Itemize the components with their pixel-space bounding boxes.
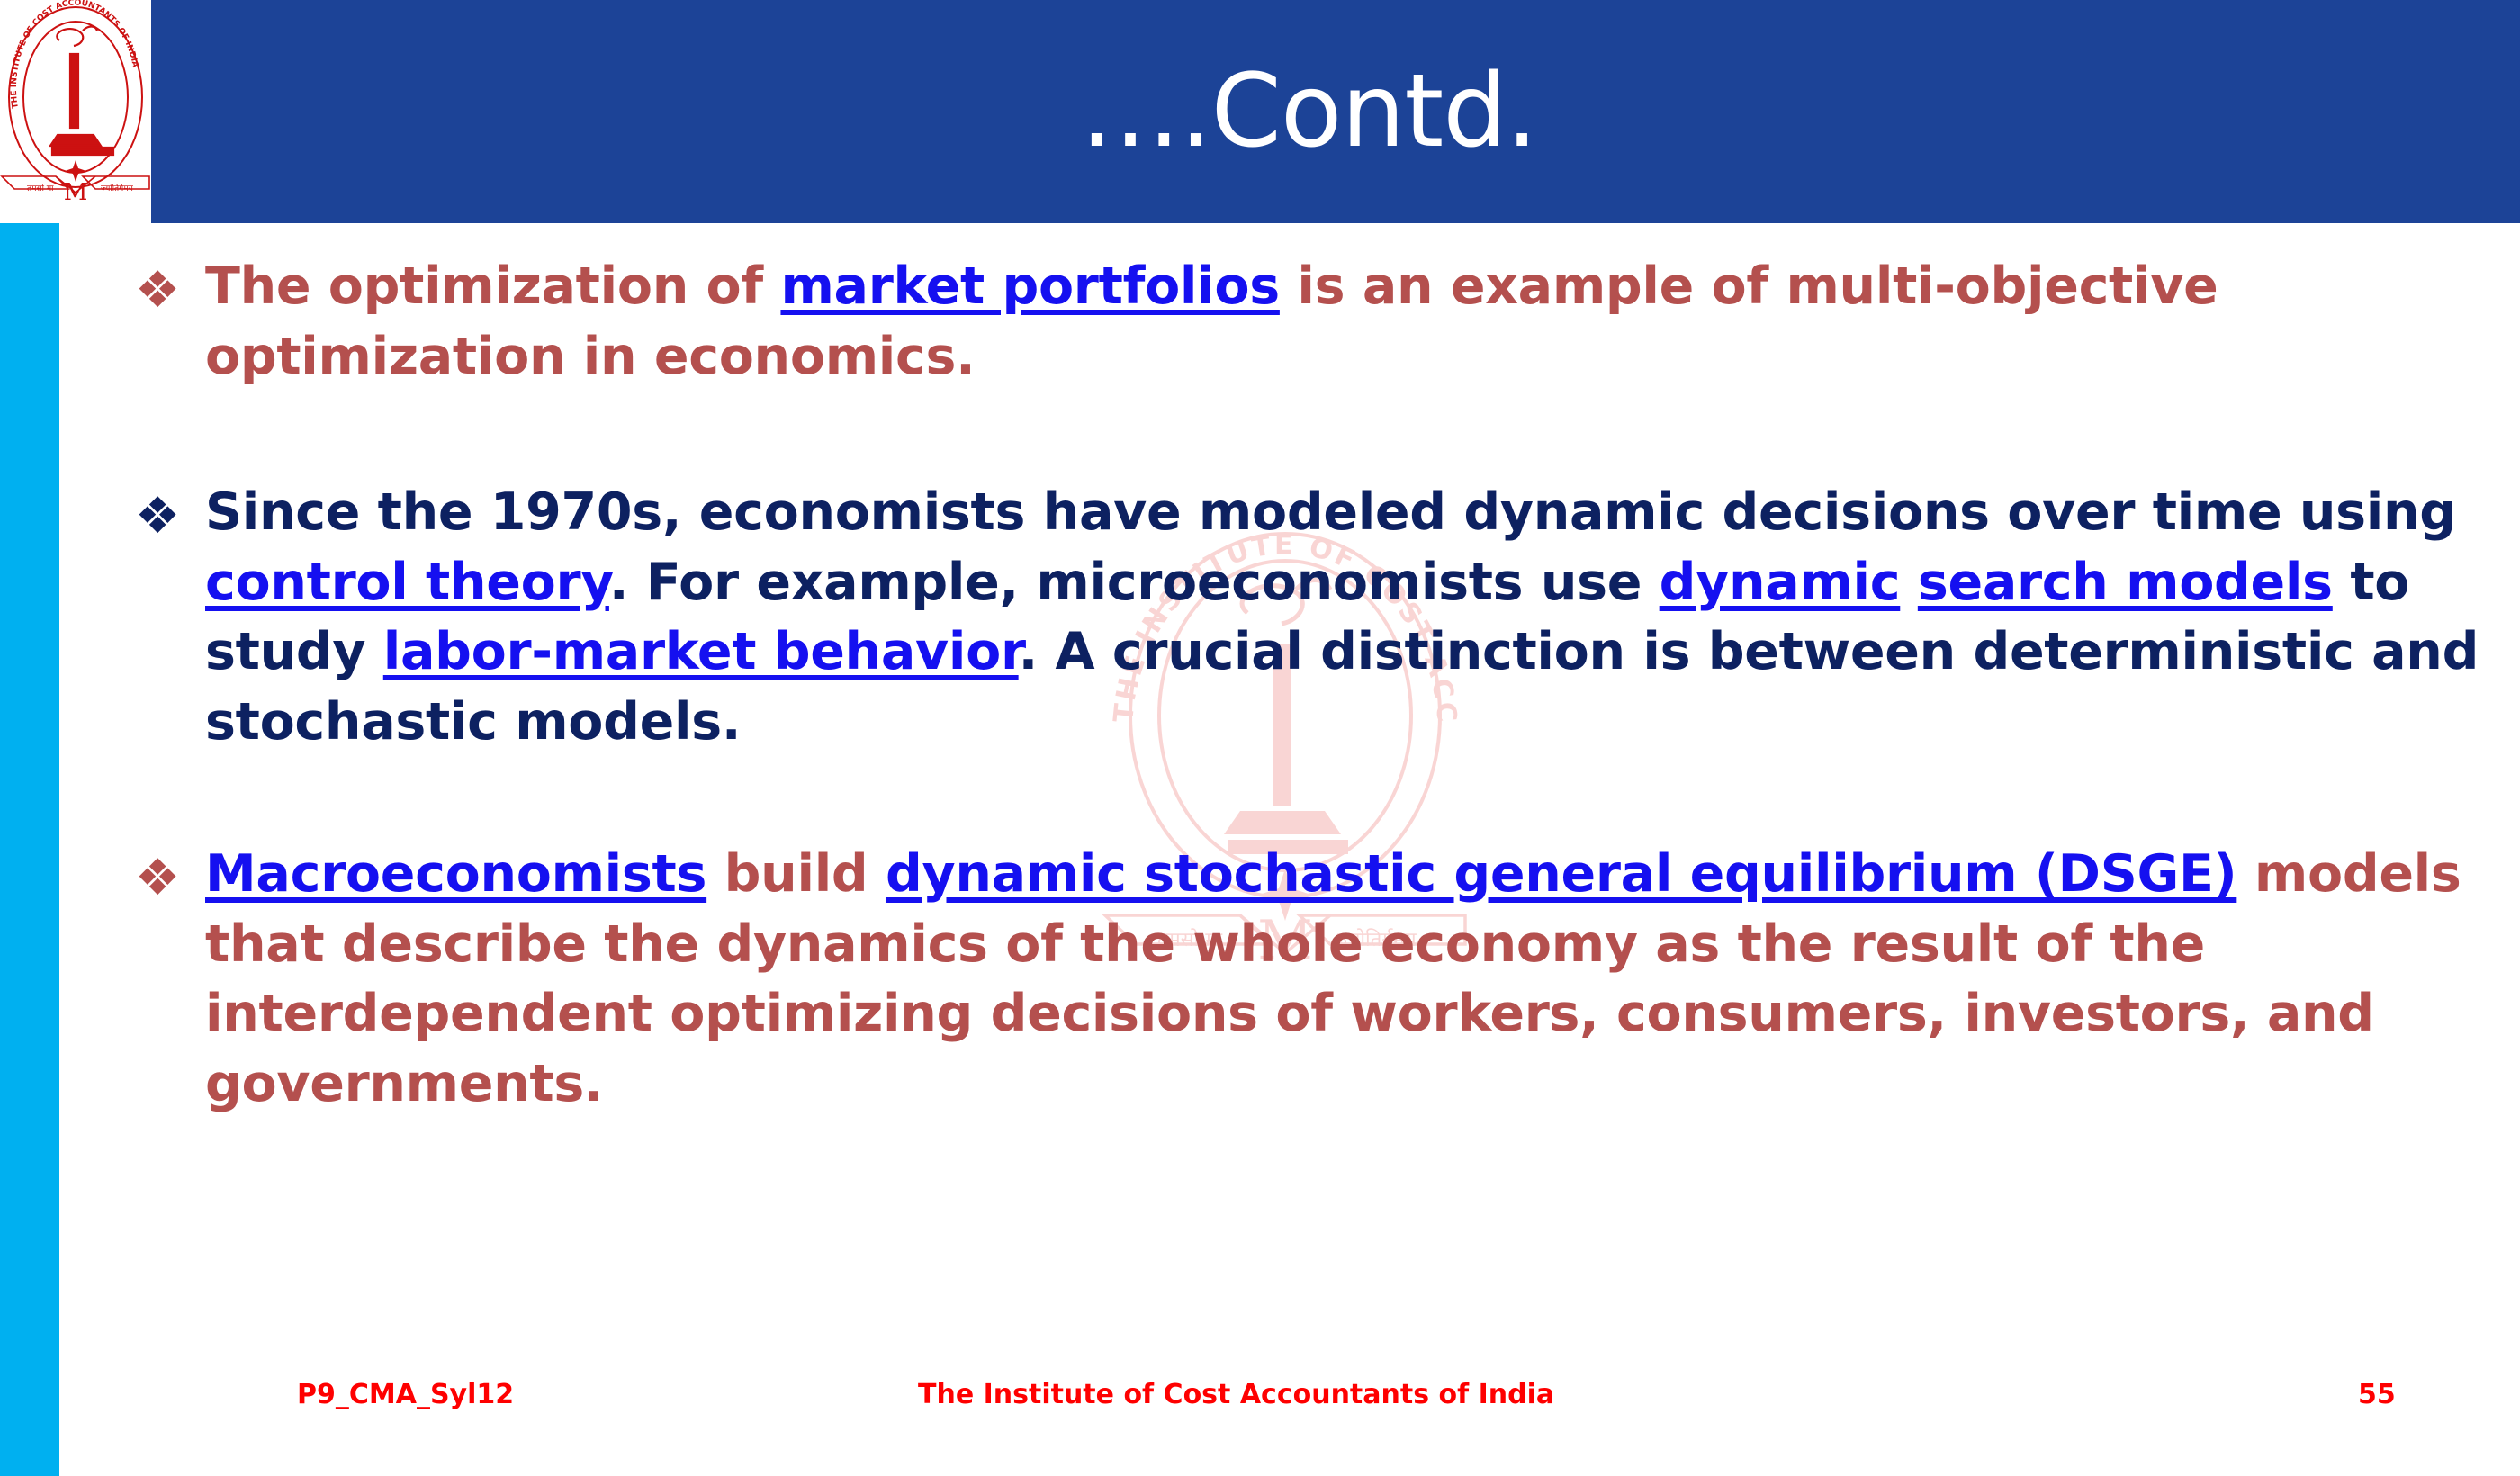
link-search-models[interactable]: search models <box>1918 553 2333 612</box>
link-dynamic[interactable]: dynamic <box>1660 553 1901 612</box>
institute-logo: THE INSTITUTE OF COST ACCOUNTANTS OF IND… <box>0 0 151 223</box>
bullet-item-3: ❖ Macroeconomists build dynamic stochast… <box>135 840 2493 1119</box>
footer-page-number: 55 <box>2358 1379 2396 1410</box>
bullet-item-2: ❖ Since the 1970s, economists have model… <box>135 478 2493 757</box>
page-title: ….Contd. <box>151 0 2520 223</box>
bullet-2-seg-0: Since the 1970s, economists have modeled… <box>205 482 2456 542</box>
link-market-portfolios[interactable]: market portfolios <box>780 256 1279 316</box>
link-dsge[interactable]: dynamic stochastic general equilibrium (… <box>886 844 2236 904</box>
bullet-item-1: ❖ The optimization of market portfolios … <box>135 252 2493 391</box>
footer-subject-code: P9_CMA_Syl12 <box>297 1379 514 1410</box>
spacer-1 <box>135 391 2493 478</box>
svg-text:M: M <box>64 179 88 206</box>
bullet-marker-icon: ❖ <box>135 478 205 550</box>
slide-canvas: THE INSTITUTE OF COST ACCOUNTANTS OF IND… <box>0 0 2520 1476</box>
link-control-theory[interactable]: control theory <box>205 553 609 612</box>
bullet-text-1: The optimization of market portfolios is… <box>205 252 2493 391</box>
slide-footer: P9_CMA_Syl12 The Institute of Cost Accou… <box>0 1370 2520 1433</box>
footer-institute-name: The Institute of Cost Accountants of Ind… <box>918 1379 1554 1410</box>
bullet-text-3: Macroeconomists build dynamic stochastic… <box>205 840 2493 1119</box>
bullet-text-2: Since the 1970s, economists have modeled… <box>205 478 2493 757</box>
spacer-2 <box>135 757 2493 840</box>
slide-body: ❖ The optimization of market portfolios … <box>135 252 2493 1119</box>
bullet-3-seg-2: build <box>706 844 886 904</box>
bullet-1-seg-0: The optimization of <box>205 256 780 316</box>
bullet-marker-icon: ❖ <box>135 840 205 912</box>
bullet-marker-icon: ❖ <box>135 252 205 324</box>
bullet-2-seg-4 <box>1900 553 1918 612</box>
link-labor-market-behavior[interactable]: labor-market behavior <box>383 622 1019 681</box>
title-banner: ….Contd. <box>151 0 2520 223</box>
link-macroeconomists[interactable]: Macroeconomists <box>205 844 706 904</box>
bullet-2-seg-2: . For example, microeconomists use <box>609 553 1660 612</box>
left-accent-bar <box>0 223 59 1476</box>
svg-text:तमसो मा: तमसो मा <box>27 183 54 193</box>
svg-text:ज्योतिर्गमय: ज्योतिर्गमय <box>101 183 134 193</box>
